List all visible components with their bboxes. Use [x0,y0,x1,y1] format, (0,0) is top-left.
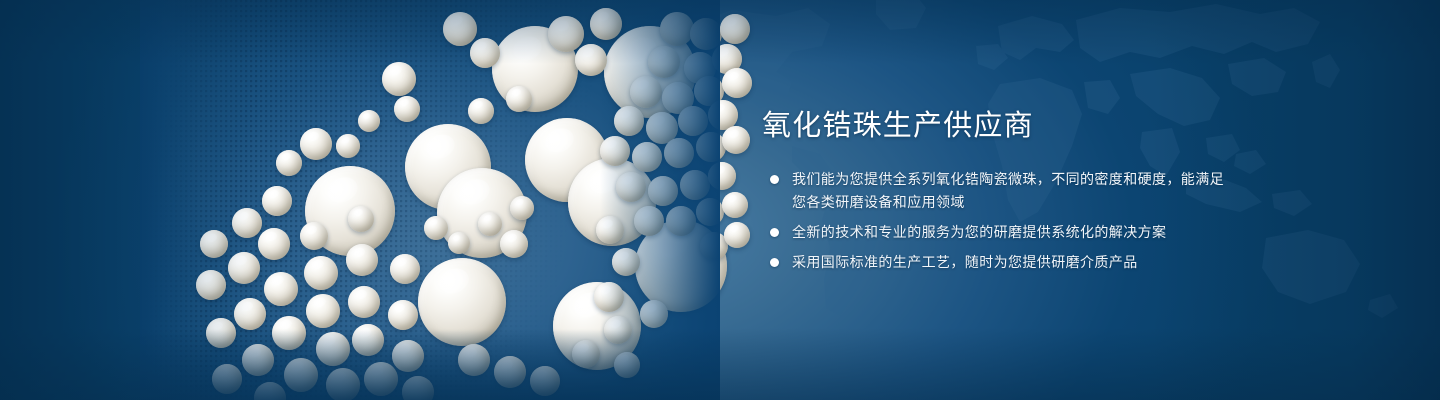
bullet-text: 采用国际标准的生产工艺，随时为您提供研磨介质产品 [792,254,1138,270]
bullet-dot-icon [770,258,779,267]
bullet-dot-icon [770,175,779,184]
banner-bullet-item: 采用国际标准的生产工艺，随时为您提供研磨介质产品 [762,251,1232,274]
banner-bullet-item: 全新的技术和专业的服务为您的研磨提供系统化的解决方案 [762,221,1232,244]
banner-copy: 氧化锆珠生产供应商 我们能为您提供全系列氧化锆陶瓷微珠，不同的密度和硬度，能满足… [762,108,1232,274]
banner-bullet-list: 我们能为您提供全系列氧化锆陶瓷微珠，不同的密度和硬度，能满足您各类研磨设备和应用… [762,168,1232,274]
bullet-text: 我们能为您提供全系列氧化锆陶瓷微珠，不同的密度和硬度，能满足您各类研磨设备和应用… [792,171,1224,210]
bullet-dot-icon [770,228,779,237]
banner-headline: 氧化锆珠生产供应商 [762,108,1232,144]
bullet-text: 全新的技术和专业的服务为您的研磨提供系统化的解决方案 [792,224,1166,240]
banner-bullet-item: 我们能为您提供全系列氧化锆陶瓷微珠，不同的密度和硬度，能满足您各类研磨设备和应用… [762,168,1232,214]
hero-banner: 氧化锆珠生产供应商 我们能为您提供全系列氧化锆陶瓷微珠，不同的密度和硬度，能满足… [0,0,1440,400]
